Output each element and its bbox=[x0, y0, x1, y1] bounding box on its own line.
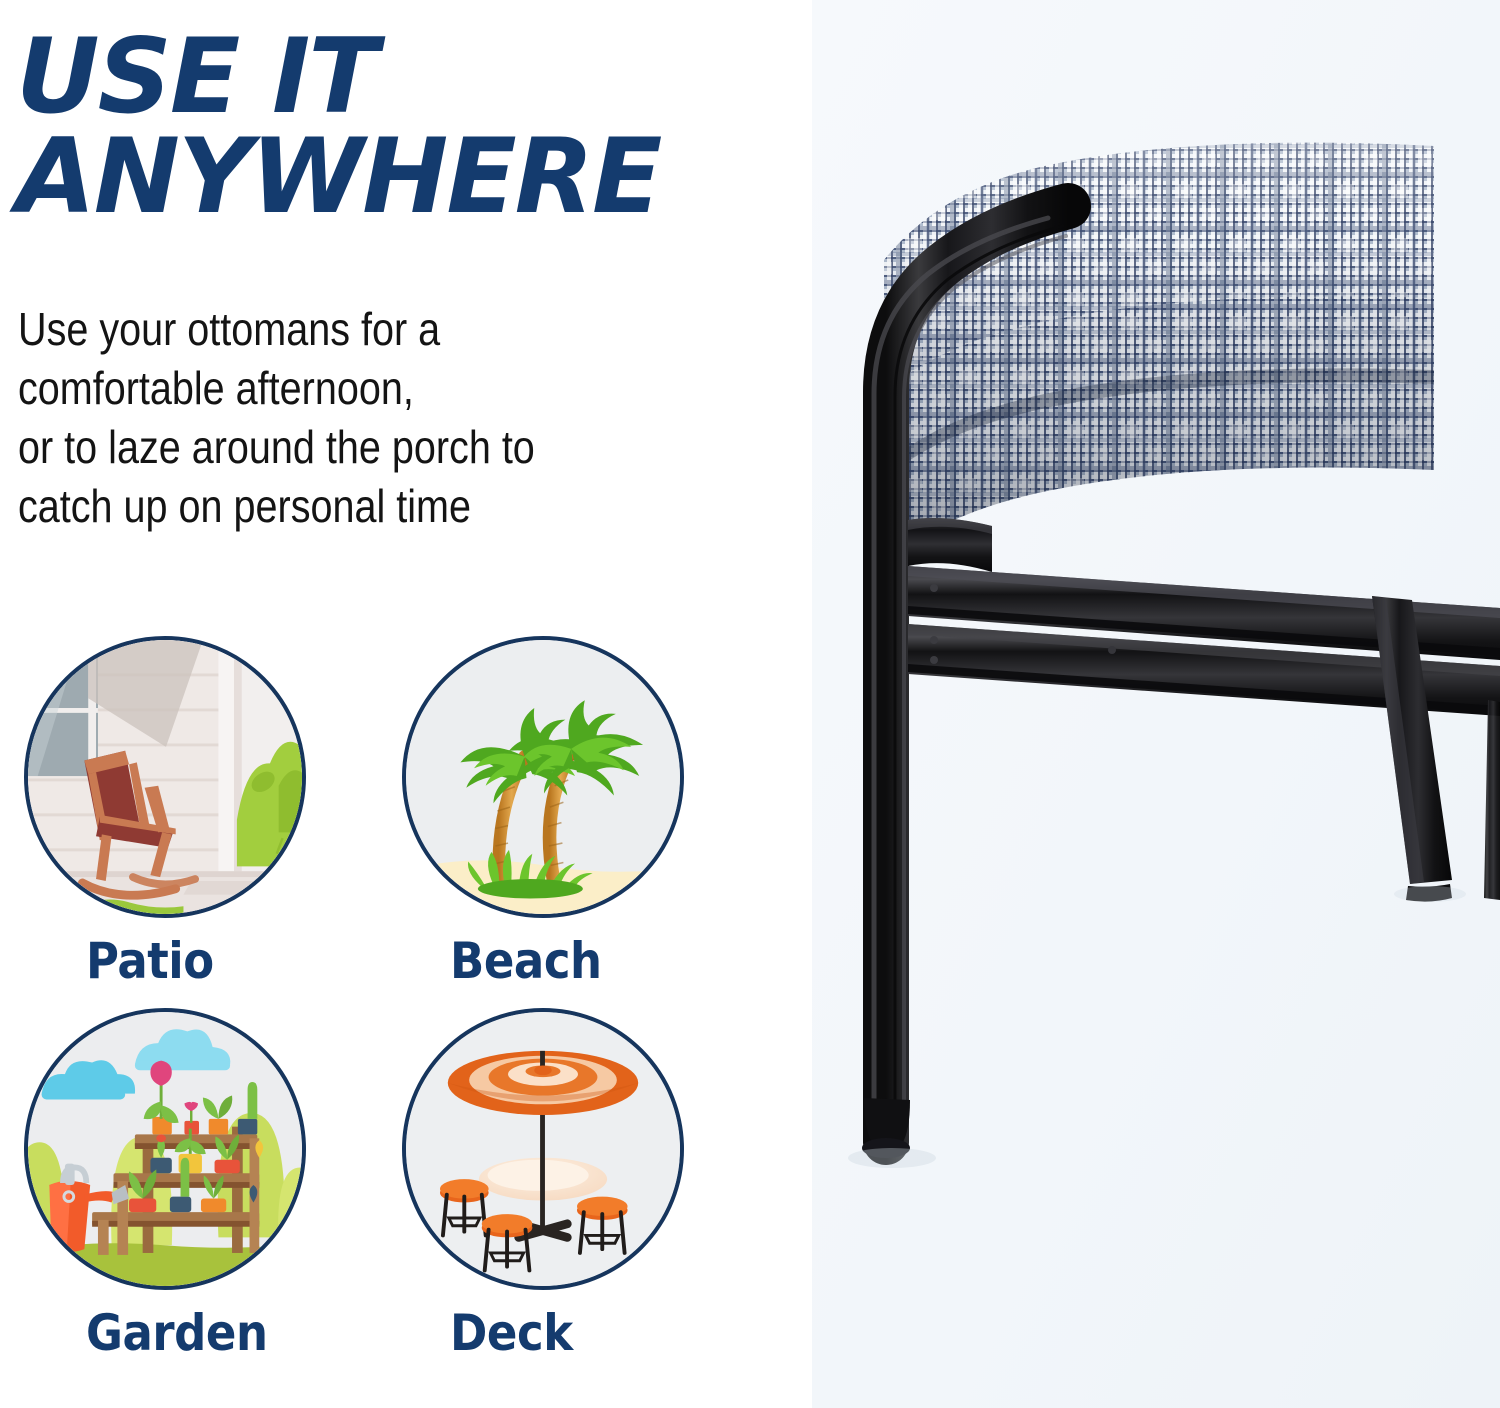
use-case-grid: Patio bbox=[24, 636, 704, 1358]
plant-shelf-icon bbox=[24, 1008, 306, 1290]
use-case-garden[interactable]: Garden bbox=[24, 1008, 308, 1358]
use-case-label: Beach bbox=[450, 936, 602, 986]
porch-rocking-chair-icon bbox=[24, 636, 306, 918]
grid-spacer bbox=[308, 636, 402, 986]
use-case-deck[interactable]: Deck bbox=[402, 1008, 686, 1358]
use-case-beach[interactable]: Beach bbox=[402, 636, 686, 986]
use-case-label: Deck bbox=[450, 1308, 573, 1358]
description-text: Use your ottomans for a comfortable afte… bbox=[18, 300, 680, 536]
outdoor-ottoman-photo bbox=[812, 0, 1500, 1408]
copy-panel: USE IT ANYWHERE Use your ottomans for a … bbox=[0, 0, 812, 1408]
use-case-patio[interactable]: Patio bbox=[24, 636, 308, 986]
use-case-label: Garden bbox=[86, 1308, 268, 1358]
infographic-page: USE IT ANYWHERE Use your ottomans for a … bbox=[0, 0, 1500, 1408]
patio-umbrella-table-icon bbox=[402, 1008, 684, 1290]
palm-trees-icon bbox=[402, 636, 684, 918]
grid-spacer bbox=[308, 1008, 402, 1358]
product-photo-panel bbox=[812, 0, 1500, 1408]
use-case-label: Patio bbox=[86, 936, 214, 986]
page-title: USE IT ANYWHERE bbox=[16, 28, 776, 228]
